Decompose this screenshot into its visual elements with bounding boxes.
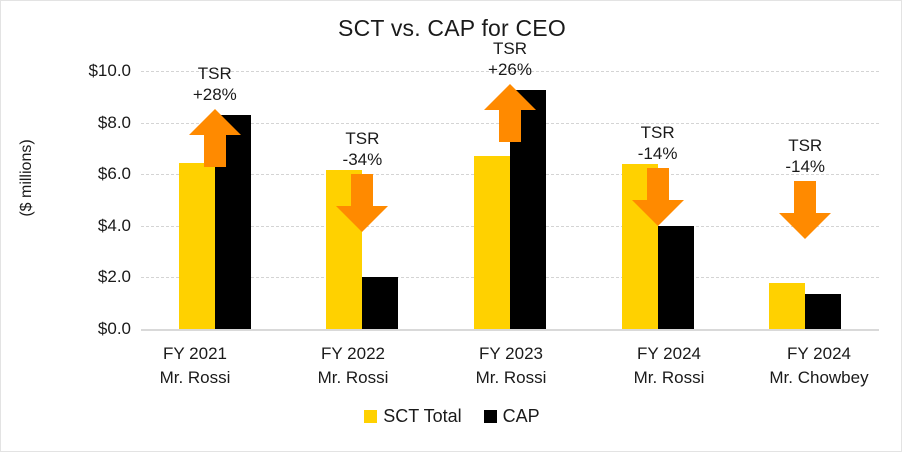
x-category-line2: Mr. Rossi — [446, 366, 576, 390]
gridline-baseline-0 — [141, 329, 879, 331]
tsr-annotation-1: TSR-34% — [297, 128, 427, 170]
tsr-label-text: TSR — [150, 63, 280, 84]
y-tick-label-6: $6.0 — [53, 164, 131, 184]
tsr-annotation-4: TSR-14% — [740, 135, 870, 177]
legend-item-sct-total[interactable]: SCT Total — [364, 406, 461, 427]
tsr-label-text: TSR — [740, 135, 870, 156]
tsr-annotation-3: TSR-14% — [593, 122, 723, 164]
tsr-value-text: -14% — [740, 156, 870, 177]
tsr-label-text: TSR — [593, 122, 723, 143]
x-category-line1: FY 2021 — [130, 342, 260, 366]
tsr-value-text: -34% — [297, 149, 427, 170]
y-tick-label-2: $2.0 — [53, 267, 131, 287]
x-category-line1: FY 2023 — [446, 342, 576, 366]
x-category-line1: FY 2022 — [288, 342, 418, 366]
x-category-line1: FY 2024 — [739, 342, 899, 366]
x-category-label-3: FY 2024 Mr. Rossi — [604, 342, 734, 390]
bar-cap-3 — [658, 226, 694, 329]
chart-container: SCT vs. CAP for CEO ($ millions) $10.0 $… — [0, 0, 902, 452]
x-category-label-1: FY 2022 Mr. Rossi — [288, 342, 418, 390]
bar-sct-total-2 — [474, 156, 510, 329]
tsr-annotation-0: TSR+28% — [150, 63, 280, 105]
arrow-up-icon-2 — [484, 84, 536, 142]
x-category-line2: Mr. Rossi — [604, 366, 734, 390]
arrow-down-icon-3 — [632, 168, 684, 226]
tsr-annotation-2: TSR+26% — [445, 38, 575, 80]
arrow-down-icon-4 — [779, 181, 831, 239]
x-category-label-4: FY 2024 Mr. Chowbey — [739, 342, 899, 390]
tsr-label-text: TSR — [297, 128, 427, 149]
legend-label: CAP — [503, 406, 540, 427]
bar-sct-total-4 — [769, 283, 805, 329]
y-tick-label-0: $0.0 — [53, 319, 131, 339]
x-category-line2: Mr. Rossi — [288, 366, 418, 390]
y-tick-label-8: $8.0 — [53, 113, 131, 133]
x-category-label-0: FY 2021 Mr. Rossi — [130, 342, 260, 390]
bar-sct-total-0 — [179, 163, 215, 329]
legend-swatch-icon — [364, 410, 377, 423]
legend-item-cap[interactable]: CAP — [484, 406, 540, 427]
y-tick-label-4: $4.0 — [53, 216, 131, 236]
arrow-up-icon-0 — [189, 109, 241, 167]
bar-cap-4 — [805, 294, 841, 329]
tsr-value-text: -14% — [593, 143, 723, 164]
x-category-line2: Mr. Chowbey — [739, 366, 899, 390]
tsr-value-text: +26% — [445, 59, 575, 80]
y-axis-title: ($ millions) — [18, 108, 36, 248]
legend-label: SCT Total — [383, 406, 461, 427]
arrow-down-icon-1 — [336, 174, 388, 232]
tsr-label-text: TSR — [445, 38, 575, 59]
tsr-value-text: +28% — [150, 84, 280, 105]
bar-cap-1 — [362, 277, 398, 329]
x-category-label-2: FY 2023 Mr. Rossi — [446, 342, 576, 390]
plot-area: TSR+28%TSR-34%TSR+26%TSR-14%TSR-14% — [141, 71, 879, 329]
chart-legend: SCT Total CAP — [1, 406, 902, 427]
x-category-line1: FY 2024 — [604, 342, 734, 366]
x-category-line2: Mr. Rossi — [130, 366, 260, 390]
y-tick-label-10: $10.0 — [53, 61, 131, 81]
legend-swatch-icon — [484, 410, 497, 423]
